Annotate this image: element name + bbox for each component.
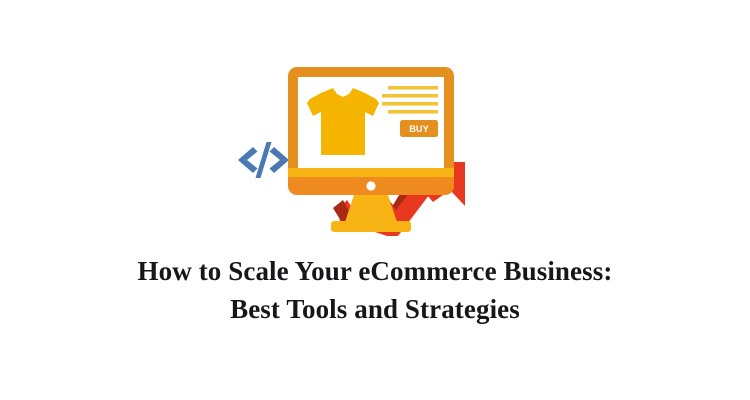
buy-button-label: BUY	[409, 124, 428, 134]
code-brackets-icon	[238, 142, 289, 178]
page-title-line-1: How to Scale Your eCommerce Business:	[0, 252, 750, 290]
power-indicator-dot	[366, 181, 375, 190]
monitor-stand-neck	[345, 195, 397, 222]
monitor: BUY	[288, 67, 454, 232]
monitor-stand-foot	[331, 221, 411, 232]
ecommerce-growth-illustration: BUY	[225, 50, 525, 240]
monitor-base-strip	[288, 168, 454, 178]
buy-button[interactable]: BUY	[400, 120, 438, 137]
page-title-line-2: Best Tools and Strategies	[0, 290, 750, 328]
page-root: BUY How to Scale Your eCommerce Business…	[0, 0, 750, 400]
page-title: How to Scale Your eCommerce Business: Be…	[0, 252, 750, 329]
illustration-svg: BUY	[225, 50, 525, 240]
